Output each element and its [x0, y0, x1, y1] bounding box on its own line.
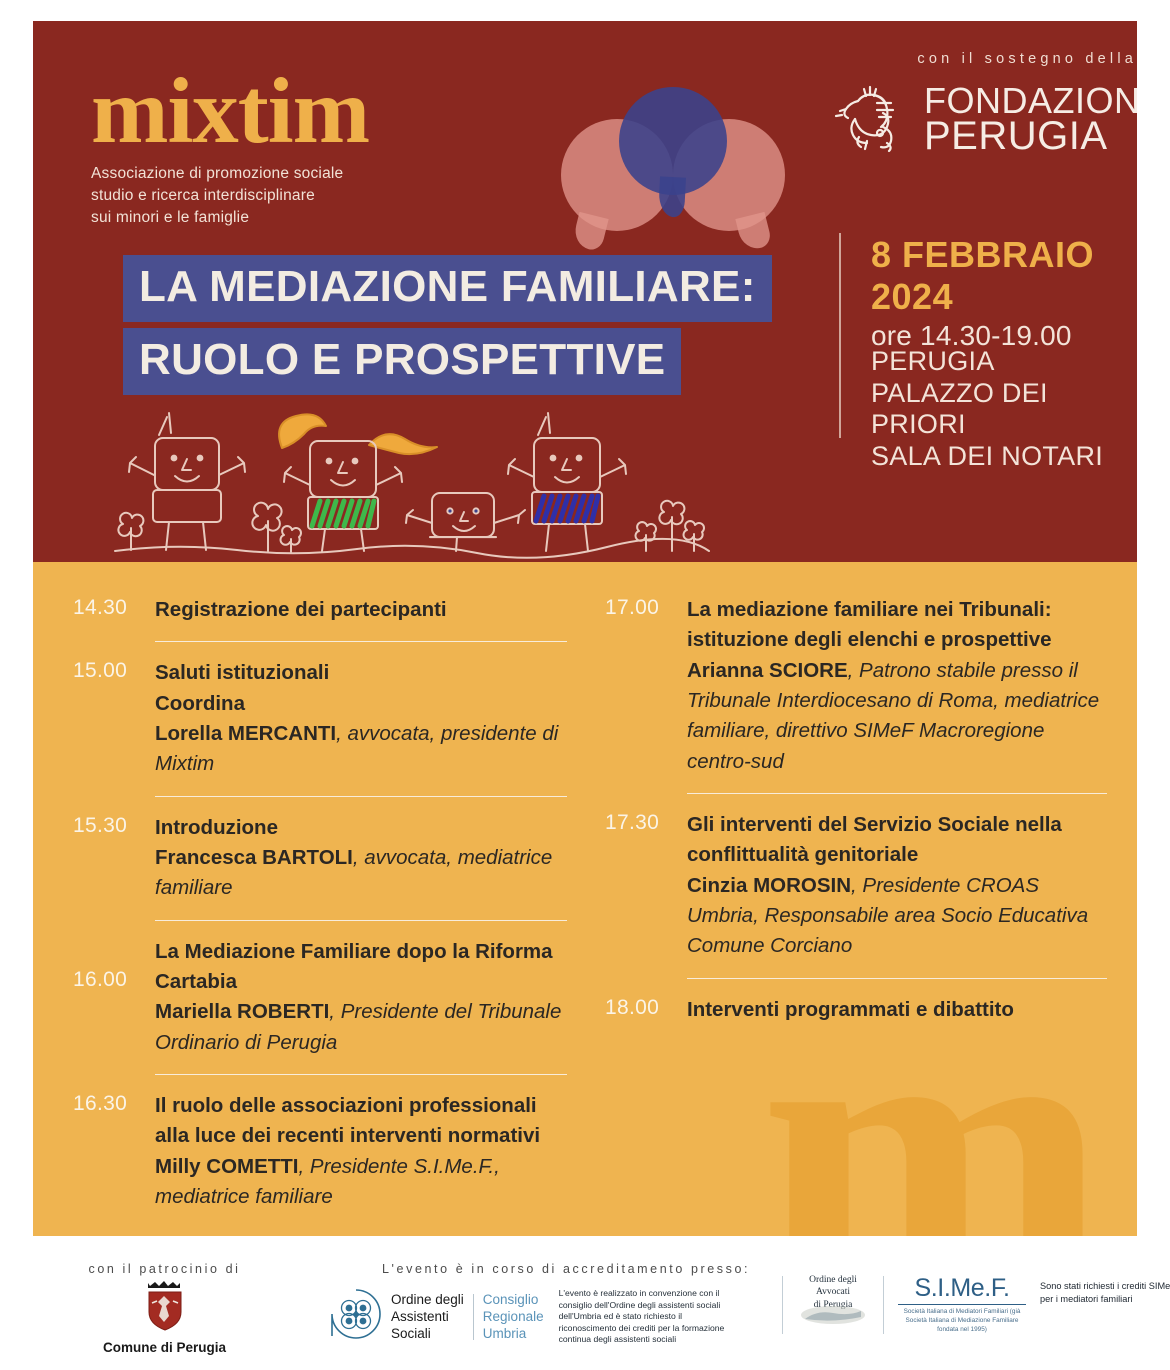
patronage-block: con il patrocinio di Comune di Perugia [42, 1262, 287, 1355]
simef-credits-text: Sono stati richiesti i crediti SIMeF per… [1040, 1280, 1170, 1306]
program-item-time: 16.30 [73, 1091, 155, 1116]
program-item-title: Saluti istituzionali [155, 661, 329, 684]
simef-name: S.I.Me.F. [896, 1274, 1028, 1303]
ordine-assistenti-sociali-icon [330, 1288, 382, 1345]
program-item-time: 17.00 [605, 595, 687, 620]
program-item: 17.30 Gli interventi del Servizio Social… [605, 810, 1107, 962]
accreditation-block: L'evento è in corso di accreditamento pr… [330, 1262, 780, 1346]
convention-text: L'evento è realizzato in convenzione con… [559, 1288, 737, 1346]
program-item-speaker: Cinzia MOROSIN [687, 874, 851, 897]
program-item-subtitle: Coordina [155, 692, 245, 715]
brand-subtitle-line-3: sui minori e le famiglie [91, 207, 511, 229]
comune-name: Comune di Perugia [42, 1340, 287, 1355]
speech-bubble-center-icon [619, 87, 727, 195]
program-item: 18.00 Interventi programmati e dibattito [605, 995, 1107, 1025]
patronage-label: con il patrocinio di [42, 1262, 287, 1276]
program-item-time: 14.30 [73, 595, 155, 620]
program-item-body: La Mediazione Familiare dopo la Riforma … [155, 937, 567, 1058]
program-item-title: La Mediazione Familiare dopo la Riforma … [155, 940, 553, 993]
brand-wordmark: mixtim [91, 68, 511, 156]
program-item: 16.00 La Mediazione Familiare dopo la Ri… [73, 937, 567, 1058]
program-item-speaker: Mariella ROBERTI [155, 1000, 329, 1023]
program-item-title: Gli interventi del Servizio Sociale nell… [687, 813, 1062, 866]
program-item-title: Interventi programmati e dibattito [687, 998, 1014, 1021]
speech-bubbles-graphic [561, 87, 801, 257]
poster-title: LA MEDIAZIONE FAMILIARE: RUOLO E PROSPET… [123, 255, 772, 395]
program-section: m 14.30 Registrazione dei partecipanti 1… [33, 562, 1137, 1236]
simef-subtitle: Società Italiana di Mediatori Familiari … [896, 1308, 1028, 1334]
brand-subtitle: Associazione di promozione sociale studi… [91, 163, 511, 229]
program-item-body: Saluti istituzionali Coordina Lorella ME… [155, 658, 567, 779]
figure-4 [508, 413, 626, 551]
program-item-time: 18.00 [605, 995, 687, 1020]
program-item-speaker: Lorella MERCANTI [155, 722, 336, 745]
footer-divider-left [782, 1276, 783, 1334]
venue-line-3: SALA DEI NOTARI [871, 441, 1137, 473]
title-line-2: RUOLO E PROSPETTIVE [123, 328, 681, 395]
program-item-body: La mediazione familiare nei Tribunali: i… [687, 595, 1107, 777]
venue-line-1: PERUGIA [871, 346, 1137, 378]
program-item-body: Interventi programmati e dibattito [687, 995, 1107, 1025]
poster-header: mixtim Associazione di promozione social… [33, 21, 1137, 562]
program-item-title: Il ruolo delle associazioni professional… [155, 1094, 540, 1147]
oas-region: ConsiglioRegionaleUmbria [483, 1291, 544, 1343]
figure-1 [129, 413, 245, 550]
program-separator [687, 793, 1107, 794]
figure-2 [279, 414, 437, 551]
program-item: 14.30 Registrazione dei partecipanti [73, 595, 567, 625]
program-separator [155, 920, 567, 921]
program-item: 15.00 Saluti istituzionali Coordina Lore… [73, 658, 567, 779]
oas-name: Ordine degliAssistentiSociali [391, 1291, 464, 1343]
griffin-icon [833, 81, 911, 158]
program-item-time: 16.00 [73, 937, 155, 992]
perugia-crest-icon [142, 1319, 188, 1336]
program-item-speaker: Francesca BARTOLI [155, 846, 353, 869]
brand-subtitle-line-2: studio e ricerca interdisciplinare [91, 185, 511, 207]
program-separator [155, 1074, 567, 1075]
sponsor-label: con il sostegno della [833, 51, 1137, 67]
program-separator [687, 978, 1107, 979]
poster-footer: con il patrocinio di Comune di Perugia L… [0, 1248, 1170, 1370]
header-divider [839, 233, 841, 438]
partner-logos-block: Ordine degliAvvocatidi Perugia S.I.Me.F.… [782, 1274, 1170, 1334]
program-column-right: 17.00 La mediazione familiare nei Tribun… [585, 562, 1137, 1236]
program-item-time: 17.30 [605, 810, 687, 835]
title-line-1: LA MEDIAZIONE FAMILIARE: [123, 255, 772, 322]
sponsor-name-line-2: PERUGIA [924, 118, 1137, 155]
family-drawing-illustration [107, 393, 717, 562]
program-item-time: 15.00 [73, 658, 155, 683]
sponsor-block: con il sostegno della [833, 51, 1137, 158]
program-item-title: La mediazione familiare nei Tribunali: i… [687, 598, 1052, 651]
program-column-left: 14.30 Registrazione dei partecipanti 15.… [33, 562, 585, 1236]
brand-block: mixtim Associazione di promozione social… [91, 68, 511, 229]
brand-subtitle-line-1: Associazione di promozione sociale [91, 163, 511, 185]
venue-line-2: PALAZZO DEI PRIORI [871, 378, 1137, 441]
program-separator [155, 796, 567, 797]
event-venue-block: PERUGIA PALAZZO DEI PRIORI SALA DEI NOTA… [871, 346, 1137, 472]
event-date-block: 8 FEBBRAIO 2024 ore 14.30-19.00 [871, 234, 1137, 352]
sponsor-name-line-1: FONDAZIONE [924, 84, 1137, 117]
program-item-body: Il ruolo delle associazioni professional… [155, 1091, 567, 1212]
program-item-title: Introduzione [155, 816, 278, 839]
footer-divider-right [883, 1276, 884, 1334]
simef-logo: S.I.Me.F. Società Italiana di Mediatori … [896, 1274, 1028, 1334]
program-item-body: Introduzione Francesca BARTOLI, avvocata… [155, 813, 567, 904]
program-item: 15.30 Introduzione Francesca BARTOLI, av… [73, 813, 567, 904]
program-item: 17.00 La mediazione familiare nei Tribun… [605, 595, 1107, 777]
ordine-avvocati-perugia-icon: Ordine degliAvvocatidi Perugia [795, 1274, 871, 1329]
event-poster: mixtim Associazione di promozione social… [0, 0, 1170, 1370]
program-item-speaker: Arianna SCIORE [687, 659, 848, 682]
event-date: 8 FEBBRAIO 2024 [871, 234, 1137, 318]
figure-3 [406, 493, 525, 551]
program-separator [155, 641, 567, 642]
accreditation-label: L'evento è in corso di accreditamento pr… [330, 1262, 780, 1276]
oas-divider [473, 1294, 474, 1340]
simef-rule [898, 1304, 1026, 1305]
program-item-body: Registrazione dei partecipanti [155, 595, 567, 625]
program-item-title: Registrazione dei partecipanti [155, 598, 447, 621]
program-item-speaker: Milly COMETTI [155, 1155, 299, 1178]
program-item-body: Gli interventi del Servizio Sociale nell… [687, 810, 1107, 962]
program-item-time: 15.30 [73, 813, 155, 838]
program-item: 16.30 Il ruolo delle associazioni profes… [73, 1091, 567, 1212]
